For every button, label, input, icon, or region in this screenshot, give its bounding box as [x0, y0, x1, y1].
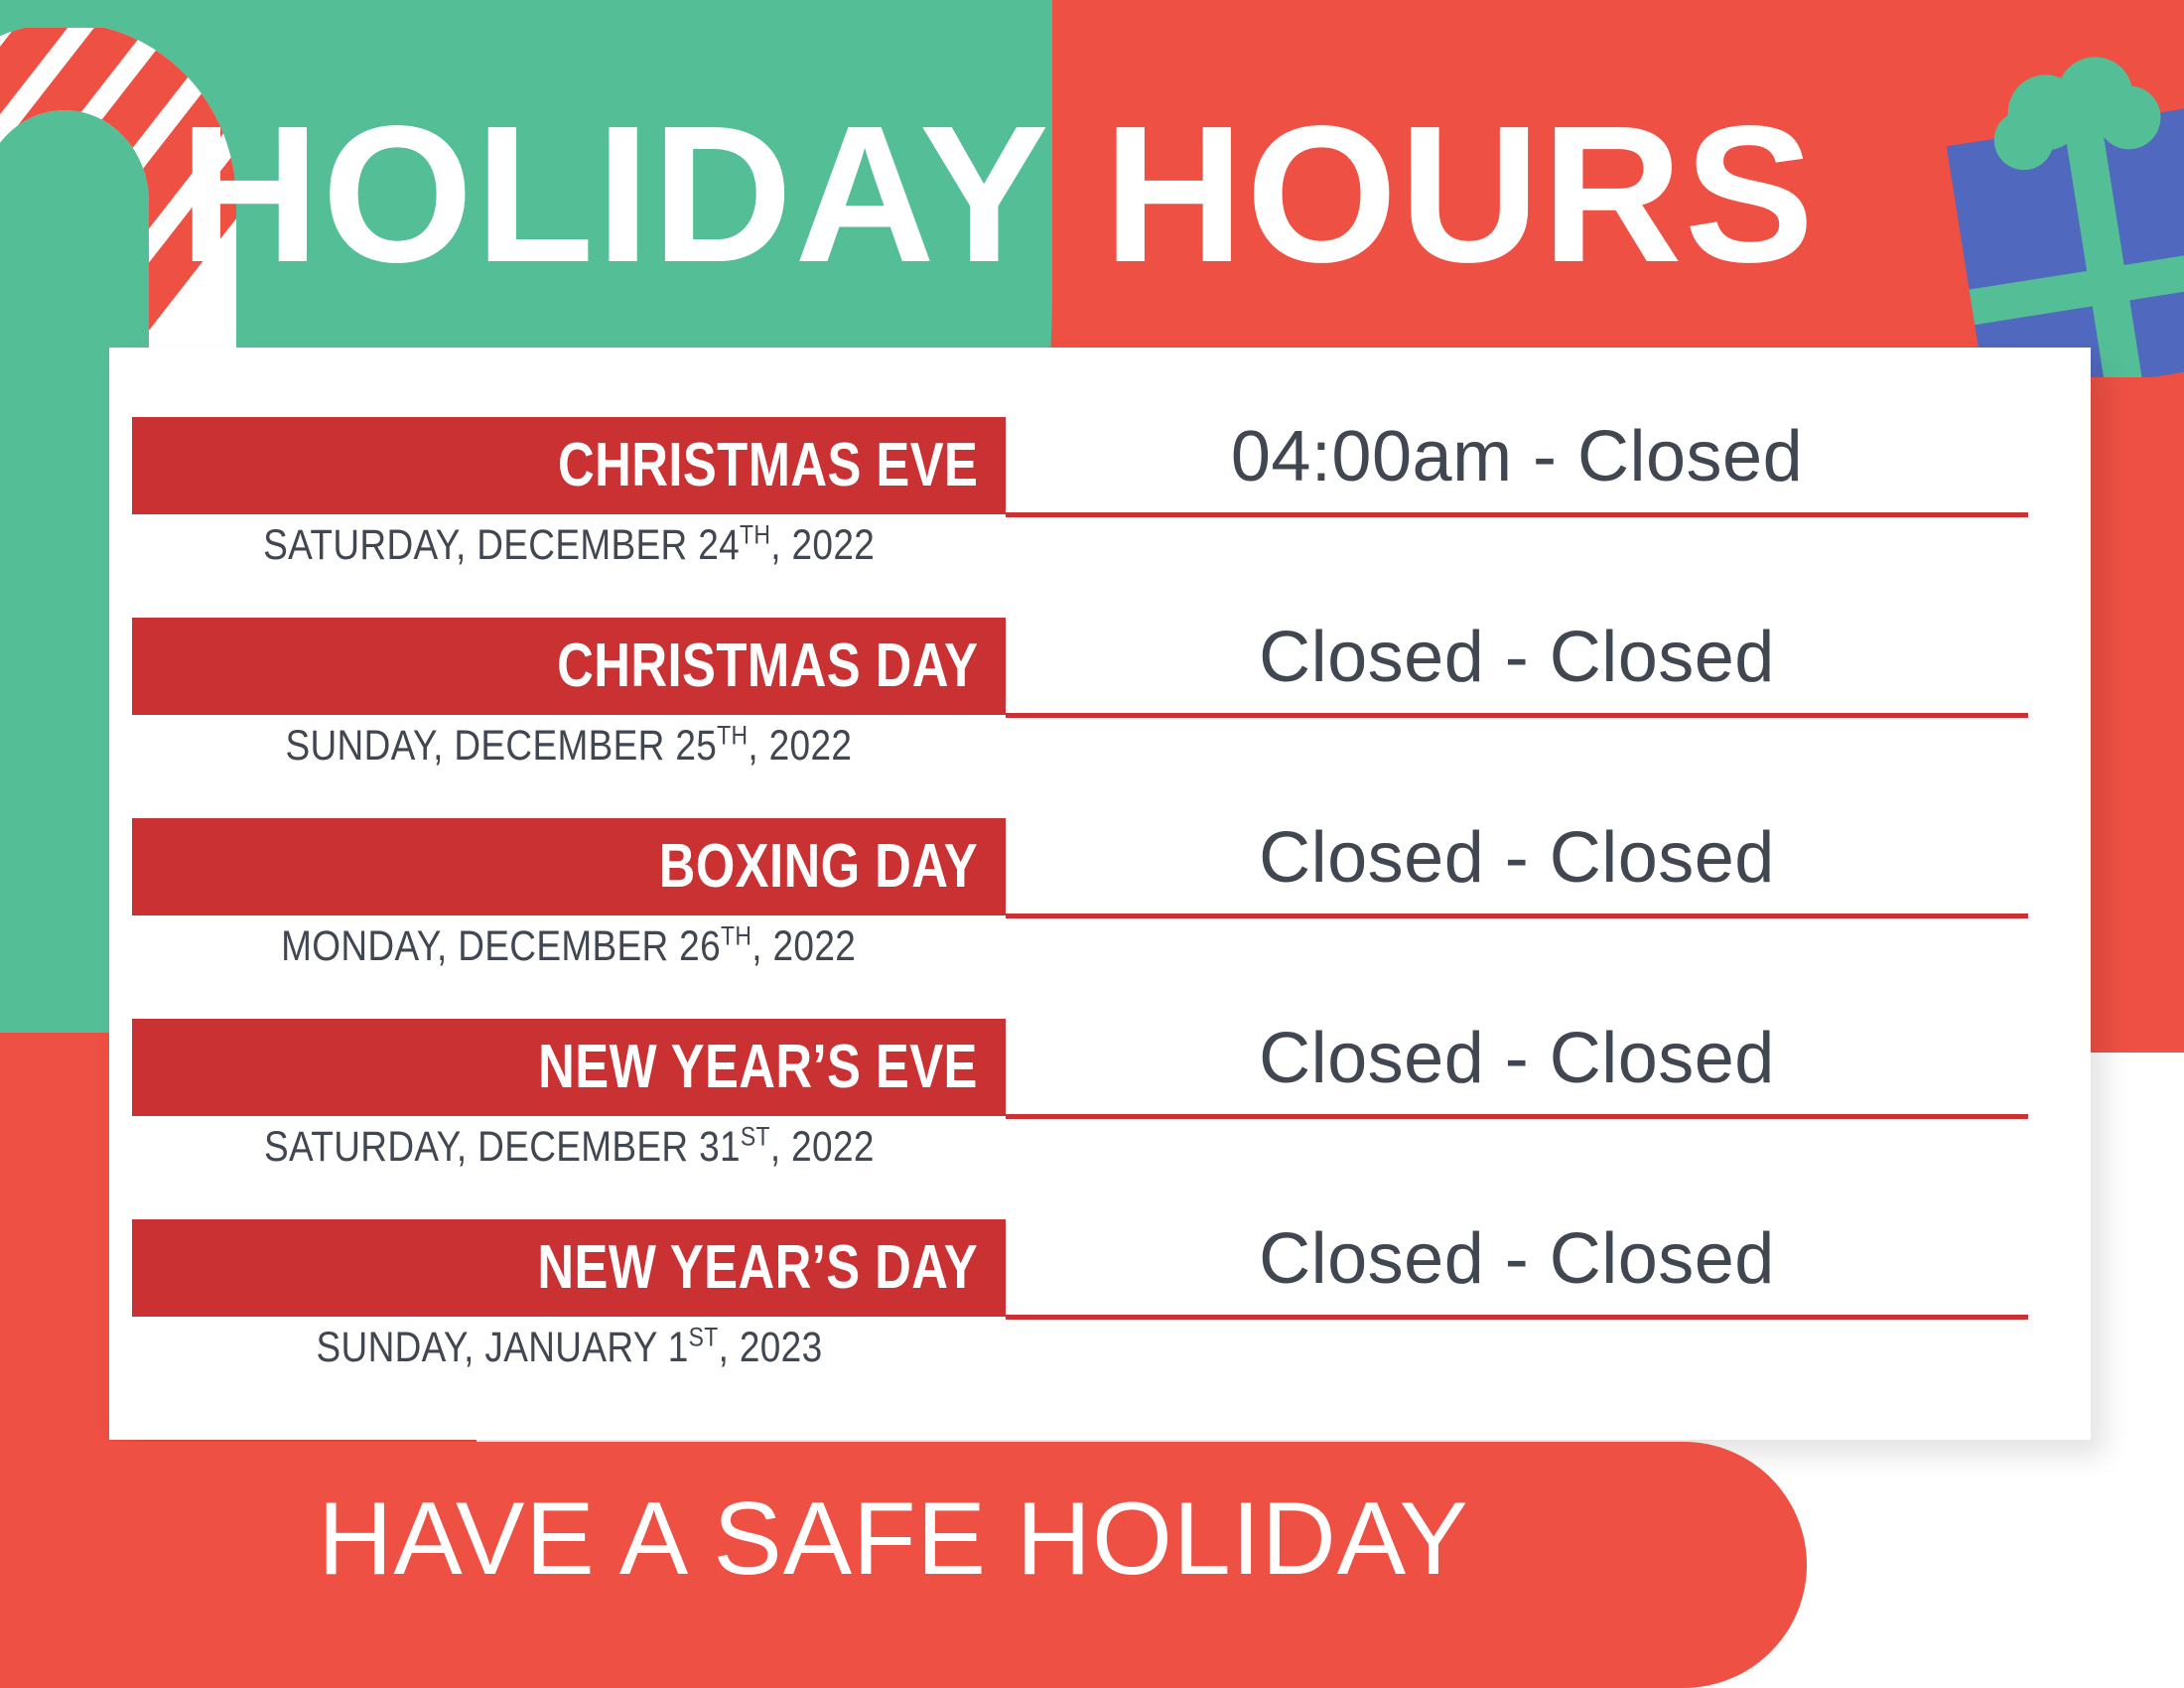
footer-message: HAVE A SAFE HOLIDAY — [0, 1487, 1787, 1591]
holiday-hours: 04:00am - Closed — [1006, 409, 2028, 505]
holiday-label-bar: CHRISTMAS DAY — [132, 618, 1006, 715]
date-prefix: MONDAY, DECEMBER 26 — [281, 922, 721, 970]
holiday-label-bar: BOXING DAY — [132, 818, 1006, 915]
holiday-date: SUNDAY, DECEMBER 25TH, 2022 — [132, 721, 1006, 773]
date-suffix: , 2022 — [749, 722, 853, 770]
row-underline — [1006, 713, 2028, 718]
table-row: NEW YEAR’S DAY SUNDAY, JANUARY 1ST, 2023… — [109, 1219, 2091, 1424]
holiday-name: BOXING DAY — [659, 836, 978, 898]
row-underline — [1006, 914, 2028, 918]
date-suffix: , 2022 — [770, 521, 875, 569]
holiday-hours: Closed - Closed — [1006, 1011, 2028, 1107]
holiday-label-bar: NEW YEAR’S EVE — [132, 1019, 1006, 1116]
holiday-name: CHRISTMAS EVE — [558, 435, 978, 496]
holiday-hours: Closed - Closed — [1006, 610, 2028, 706]
holiday-hours: Closed - Closed — [1006, 1211, 2028, 1308]
row-underline — [1006, 1114, 2028, 1119]
row-underline — [1006, 512, 2028, 517]
holiday-label-bar: CHRISTMAS EVE — [132, 417, 1006, 514]
table-row: BOXING DAY MONDAY, DECEMBER 26TH, 2022 C… — [109, 818, 2091, 1023]
table-row: CHRISTMAS EVE SATURDAY, DECEMBER 24TH, 2… — [109, 417, 2091, 622]
holiday-hours: Closed - Closed — [1006, 810, 2028, 907]
date-suffix: , 2022 — [752, 922, 857, 970]
holiday-date: SATURDAY, DECEMBER 24TH, 2022 — [132, 520, 1006, 572]
date-ordinal: TH — [740, 520, 770, 550]
holiday-date: SATURDAY, DECEMBER 31ST, 2022 — [132, 1122, 1006, 1174]
date-prefix: SUNDAY, JANUARY 1 — [316, 1324, 688, 1371]
table-row: NEW YEAR’S EVE SATURDAY, DECEMBER 31ST, … — [109, 1019, 2091, 1223]
date-ordinal: TH — [717, 721, 748, 751]
holiday-date: SUNDAY, JANUARY 1ST, 2023 — [132, 1323, 1006, 1374]
page-title: HOLIDAY HOURS — [0, 97, 1995, 292]
holiday-date: MONDAY, DECEMBER 26TH, 2022 — [132, 921, 1006, 973]
date-ordinal: ST — [688, 1323, 718, 1352]
holiday-hours-poster: HOLIDAY HOURS CHRISTMAS EVE SATURDAY, DE… — [0, 0, 2184, 1688]
date-prefix: SATURDAY, DECEMBER 31 — [264, 1123, 741, 1171]
date-prefix: SUNDAY, DECEMBER 25 — [286, 722, 718, 770]
table-row: CHRISTMAS DAY SUNDAY, DECEMBER 25TH, 202… — [109, 618, 2091, 822]
date-ordinal: TH — [721, 921, 751, 951]
holiday-name: NEW YEAR’S DAY — [537, 1237, 978, 1299]
holiday-name: NEW YEAR’S EVE — [538, 1037, 978, 1098]
date-prefix: SATURDAY, DECEMBER 24 — [263, 521, 740, 569]
row-underline — [1006, 1315, 2028, 1320]
date-suffix: , 2022 — [769, 1123, 874, 1171]
holiday-name: CHRISTMAS DAY — [557, 635, 978, 697]
schedule-table: CHRISTMAS EVE SATURDAY, DECEMBER 24TH, 2… — [109, 348, 2091, 1440]
holiday-label-bar: NEW YEAR’S DAY — [132, 1219, 1006, 1317]
date-suffix: , 2023 — [718, 1324, 822, 1371]
date-ordinal: ST — [740, 1122, 769, 1152]
